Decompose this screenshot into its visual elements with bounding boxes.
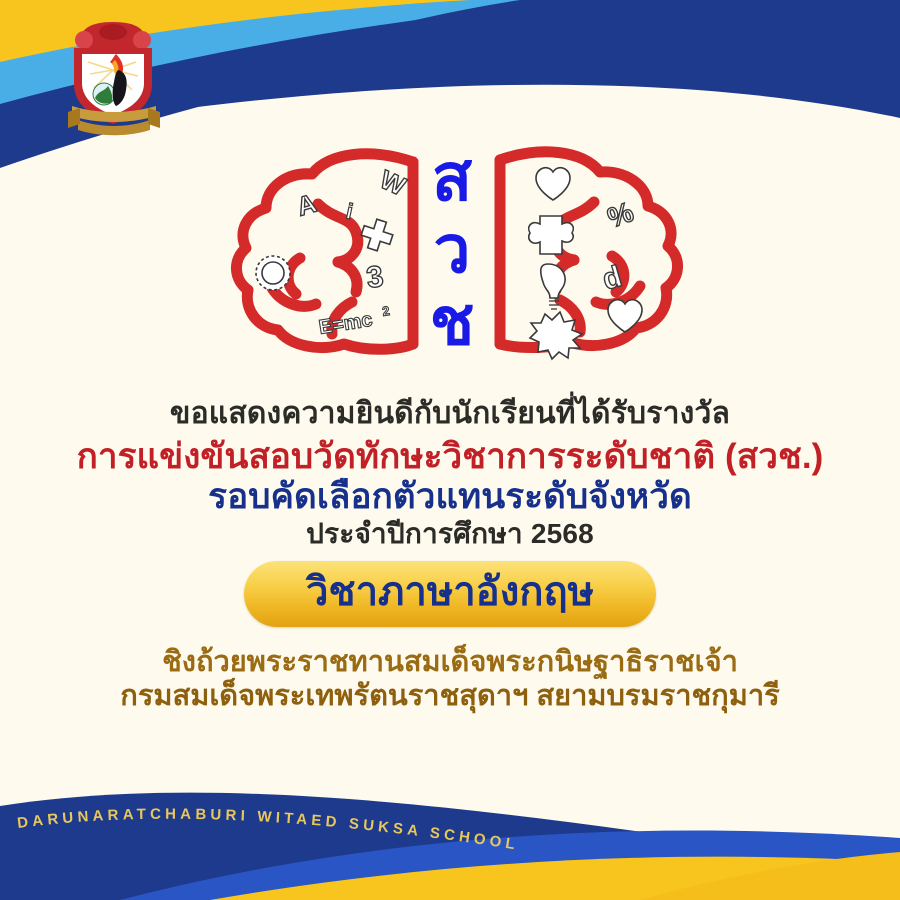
school-name-label: DARUNARATCHABURI WITAED SUKSA SCHOOL <box>16 806 520 854</box>
symbol-heart-top <box>536 168 570 200</box>
symbol-emc2-exponent: 2 <box>381 303 390 319</box>
congrats-line: ขอแสดงความยินดีกับนักเรียนที่ได้รับรางวั… <box>0 398 900 430</box>
sw-ch-brain-logo: W A i 3 E=mc 2 ส ว ช <box>0 138 900 368</box>
trophy-line-2: กรมสมเด็จพระเทพรัตนราชสุดาฯ สยามบรมราชกุ… <box>0 679 900 713</box>
symbol-plus <box>358 216 396 254</box>
trophy-line-1: ชิงถ้วยพระราชทานสมเด็จพระกนิษฐาธิราชเจ้า <box>0 645 900 679</box>
symbol-3: 3 <box>364 260 385 295</box>
brain-thai-letters: ส ว ช <box>430 140 475 358</box>
round-title-line: รอบคัดเลือกตัวแทนระดับจังหวัด <box>0 478 900 515</box>
symbol-emc2: E=mc <box>317 309 374 339</box>
school-name-footer: DARUNARATCHABURI WITAED SUKSA SCHOOL <box>0 790 900 900</box>
symbol-percent: % <box>603 196 637 234</box>
academic-year-line: ประจำปีการศึกษา 2568 <box>0 519 900 549</box>
crest-crown-right-rosette <box>133 31 151 49</box>
poster-canvas: W A i 3 E=mc 2 ส ว ช <box>0 0 900 900</box>
crest-crown-center <box>99 24 127 40</box>
school-crest <box>58 18 168 136</box>
school-name-text: DARUNARATCHABURI WITAED SUKSA SCHOOL <box>16 806 520 854</box>
crest-crown-left-rosette <box>75 31 93 49</box>
contest-title-line: การแข่งขันสอบวัดทักษะวิชาการระดับชาติ (ส… <box>0 438 900 475</box>
headings-block: ขอแสดงความยินดีกับนักเรียนที่ได้รับรางวั… <box>0 398 900 713</box>
thai-letter-so: ส <box>432 140 473 214</box>
brain-right-hemisphere <box>500 152 678 348</box>
subject-badge[interactable]: วิชาภาษาอังกฤษ <box>244 561 656 627</box>
symbol-lightbulb <box>541 264 565 298</box>
symbol-W: W <box>376 164 411 202</box>
subject-badge-wrapper: วิชาภาษาอังกฤษ <box>0 561 900 627</box>
symbol-A: A <box>293 188 320 222</box>
symbol-gear-inner <box>262 262 284 284</box>
thai-letter-cho: ช <box>430 284 475 358</box>
thai-letter-wo: ว <box>433 212 470 286</box>
